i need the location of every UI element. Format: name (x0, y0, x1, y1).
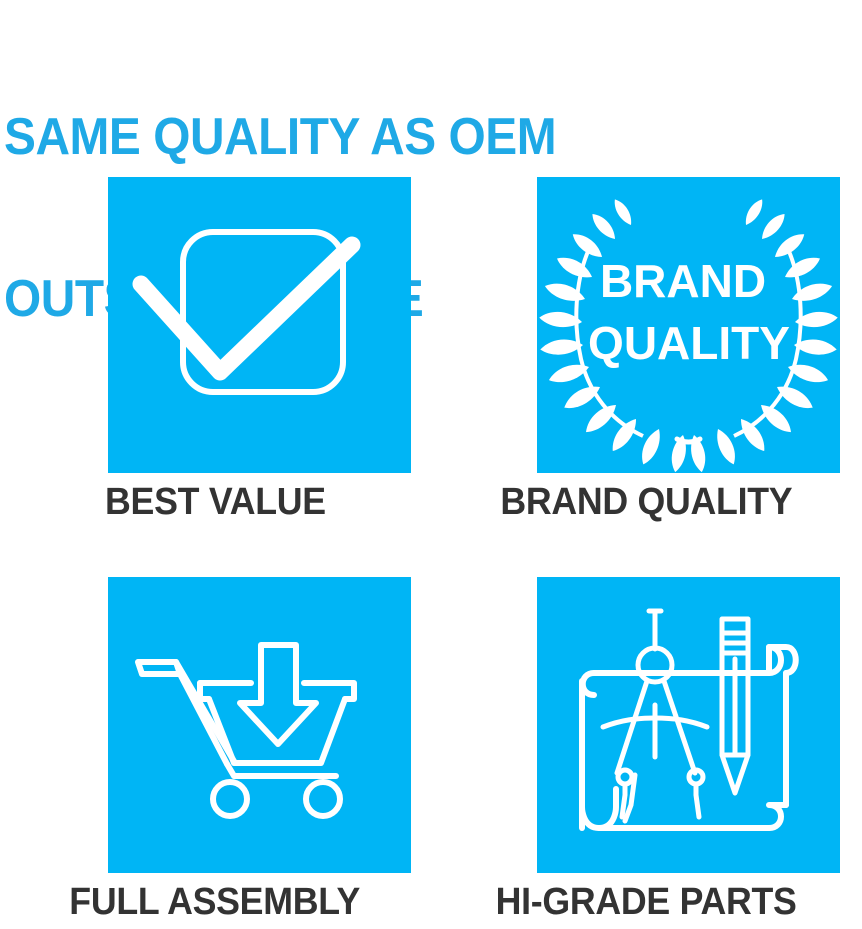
feature-cell-hi-grade-parts: HI-GRADE PARTS (431, 577, 861, 929)
feature-cell-full-assembly: FULL ASSEMBLY (0, 577, 430, 929)
wreath-label-brand: BRAND (600, 255, 766, 307)
blueprint-compass-pencil-icon (537, 577, 840, 873)
feature-grid: BEST VALUE (0, 0, 862, 929)
icon-tile-hi-grade-parts (537, 577, 840, 873)
wreath-label-quality: QUALITY (588, 317, 790, 369)
promo-feature-panel: SAME QUALITY AS OEM OUTSIDE + INSIDE BES… (0, 0, 862, 929)
shopping-cart-download-icon (108, 577, 411, 873)
icon-tile-brand-quality: BRAND QUALITY (537, 177, 840, 473)
feature-cell-brand-quality: BRAND QUALITY BRAND QUALITY (431, 177, 861, 577)
feature-caption-full-assembly: FULL ASSEMBLY (0, 881, 430, 923)
feature-caption-brand-quality: BRAND QUALITY (431, 481, 861, 523)
icon-tile-full-assembly (108, 577, 411, 873)
icon-tile-best-value (108, 177, 411, 473)
checkbox-check-icon (108, 177, 411, 473)
feature-caption-hi-grade-parts: HI-GRADE PARTS (431, 881, 861, 923)
laurel-wreath-icon: BRAND QUALITY (537, 177, 840, 473)
feature-caption-best-value: BEST VALUE (0, 481, 430, 523)
feature-cell-best-value: BEST VALUE (0, 177, 430, 577)
